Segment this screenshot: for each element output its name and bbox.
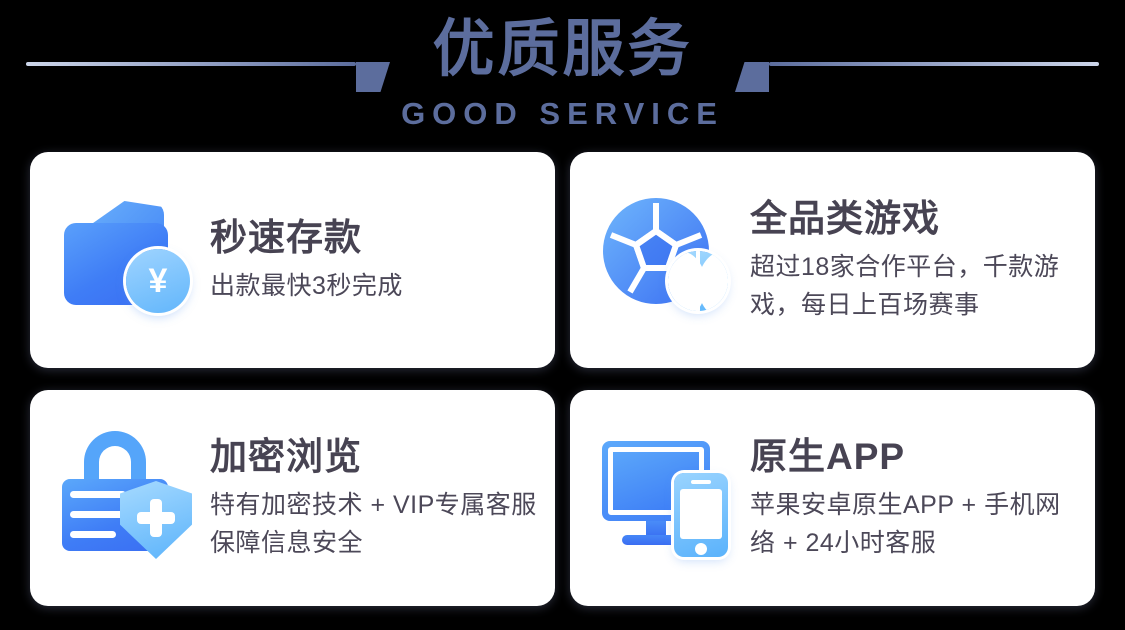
card-text-block: 原生APP 苹果安卓原生APP + 手机网络 + 24小时客服 (750, 434, 1095, 562)
basketball-icon (668, 251, 728, 311)
feature-card-deposit[interactable]: ¥ 秒速存款 出款最快3秒完成 (30, 152, 555, 368)
shield-cross-icon (137, 512, 175, 524)
lock-shield-icon (54, 423, 204, 573)
card-text-block: 秒速存款 出款最快3秒完成 (210, 215, 555, 305)
feature-card-grid: ¥ 秒速存款 出款最快3秒完成 (30, 152, 1095, 606)
card-description: 特有加密技术 + VIP专属客服保障信息安全 (210, 486, 537, 562)
card-text-block: 全品类游戏 超过18家合作平台，千款游戏，每日上百场赛事 (750, 196, 1095, 324)
lock-slot (70, 531, 116, 538)
feature-card-games[interactable]: 全品类游戏 超过18家合作平台，千款游戏，每日上百场赛事 (570, 152, 1095, 368)
lock-slot (70, 491, 126, 498)
card-title: 秒速存款 (210, 215, 537, 261)
soccer-basketball-icon (594, 185, 744, 335)
card-description: 出款最快3秒完成 (210, 267, 537, 305)
card-title: 原生APP (750, 434, 1077, 480)
phone-icon (674, 473, 728, 557)
section-header: 优质服务 GOOD SERVICE (0, 0, 1125, 148)
card-title: 加密浏览 (210, 434, 537, 480)
page-subtitle: GOOD SERVICE (0, 96, 1125, 132)
phone-speaker (691, 480, 711, 484)
phone-home-button (695, 543, 707, 555)
feature-card-native-app[interactable]: 原生APP 苹果安卓原生APP + 手机网络 + 24小时客服 (570, 390, 1095, 606)
page-title: 优质服务 (0, 12, 1125, 88)
card-description: 苹果安卓原生APP + 手机网络 + 24小时客服 (750, 486, 1077, 562)
basketball-curve-right (698, 251, 728, 311)
monitor-phone-icon (594, 423, 744, 573)
card-description: 超过18家合作平台，千款游戏，每日上百场赛事 (750, 248, 1077, 324)
phone-screen (680, 489, 722, 539)
card-text-block: 加密浏览 特有加密技术 + VIP专属客服保障信息安全 (210, 434, 555, 562)
feature-card-encryption[interactable]: 加密浏览 特有加密技术 + VIP专属客服保障信息安全 (30, 390, 555, 606)
wallet-yen-icon: ¥ (54, 185, 204, 335)
card-title: 全品类游戏 (750, 196, 1077, 242)
yen-coin-icon: ¥ (126, 249, 190, 313)
